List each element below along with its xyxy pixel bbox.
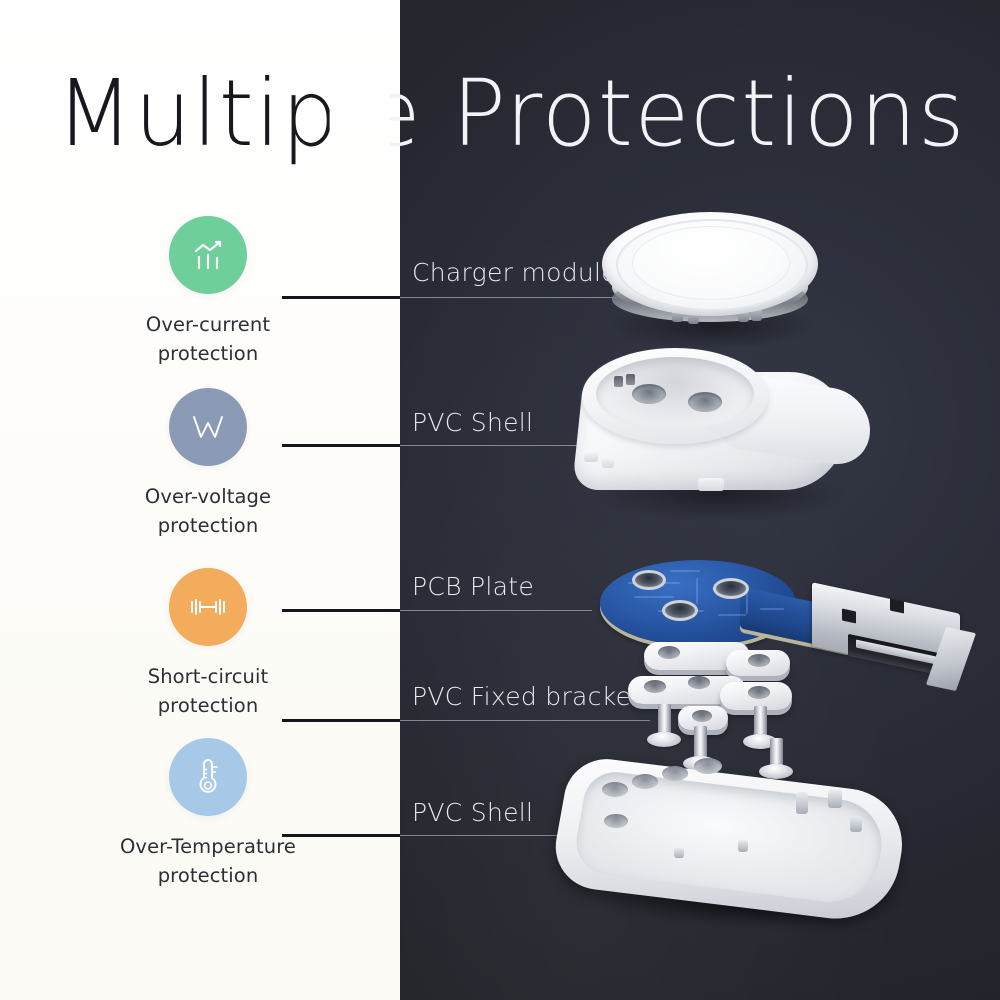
feature-label-line1: Short-circuit — [148, 665, 269, 688]
watt-letter-icon — [169, 388, 247, 466]
feature-over-current[interactable]: Over-current protection — [118, 216, 298, 368]
connector-line-pvc-shell-top — [282, 444, 400, 447]
connector-line-pvc-fixed-bracket-dark — [400, 720, 650, 721]
feature-label-line2: protection — [118, 691, 298, 720]
thermometer-icon — [169, 738, 247, 816]
product-infographic: Multiple Protections Multiple Protection… — [0, 0, 1000, 1000]
resistor-icon — [169, 568, 247, 646]
charger-module-image — [588, 206, 838, 346]
feature-label-line2: protection — [118, 511, 298, 540]
part-label-pvc-shell-bottom: PVC Shell — [412, 798, 533, 827]
connector-line-pcb-plate-dark — [400, 610, 592, 611]
connector-line-pcb-plate — [282, 609, 400, 612]
pvc-shell-top-image — [570, 348, 880, 518]
connector-line-pvc-fixed-bracket — [282, 719, 400, 722]
feature-label-line1: Over-current — [146, 313, 270, 336]
part-label-pvc-shell-top: PVC Shell — [412, 408, 533, 437]
feature-label: Over-current protection — [118, 310, 298, 368]
part-label-pvc-fixed-bracket: PVC Fixed bracket — [412, 682, 641, 711]
connector-line-charger-module — [282, 296, 400, 299]
feature-label: Short-circuit protection — [118, 662, 298, 720]
pvc-shell-bottom-image — [560, 748, 960, 918]
feature-short-circuit[interactable]: Short-circuit protection — [118, 568, 298, 720]
feature-over-voltage[interactable]: Over-voltage protection — [118, 388, 298, 540]
feature-label-line1: Over-Temperature — [120, 835, 296, 858]
connector-line-pvc-shell-top-dark — [400, 445, 580, 446]
connector-line-pvc-shell-bottom — [282, 834, 400, 837]
part-label-pcb-plate: PCB Plate — [412, 572, 534, 601]
chart-bars-icon — [169, 216, 247, 294]
part-label-charger-module: Charger module — [412, 258, 617, 287]
feature-label: Over-Temperature protection — [118, 832, 298, 890]
connector-line-charger-module-dark — [400, 297, 618, 298]
feature-label-line2: protection — [118, 339, 298, 368]
feature-label-line2: protection — [118, 861, 298, 890]
page-title: Multiple Protections Multiple Protection… — [0, 58, 1000, 170]
feature-label: Over-voltage protection — [118, 482, 298, 540]
feature-over-temperature[interactable]: Over-Temperature protection — [118, 738, 298, 890]
feature-label-line1: Over-voltage — [145, 485, 271, 508]
